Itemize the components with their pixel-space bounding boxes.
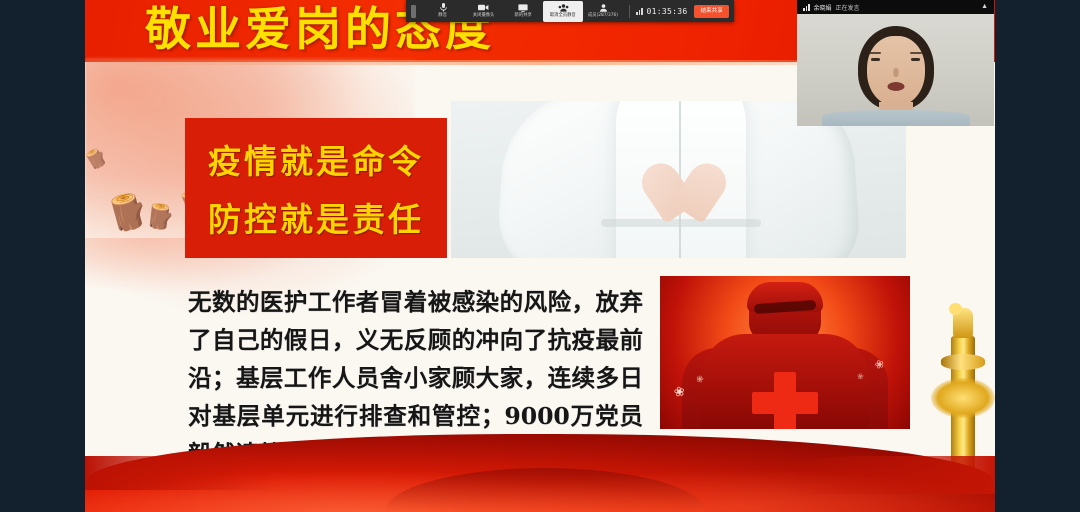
speaker-eye (911, 58, 920, 61)
toolbar-divider (629, 5, 630, 18)
ribbon-tail-right (785, 456, 995, 494)
column-disc (941, 354, 985, 370)
unmute-all-label: 取消全员静音 (550, 12, 576, 19)
speaker-video-panel[interactable]: 余晓娟 正在发言 ▲ (797, 0, 994, 126)
speaker-name: 余晓娟 (814, 3, 832, 12)
new-share-button[interactable]: 新的共享 (503, 1, 543, 22)
golden-huabiao-column (939, 300, 987, 475)
speaker-eyebrow (910, 52, 922, 54)
speaker-shirt (822, 110, 970, 126)
red-cross-icon (752, 392, 818, 414)
signal-bars-icon (636, 7, 643, 15)
lion-statue-icon (953, 308, 973, 338)
members-button[interactable]: 成员(287/376) (583, 1, 623, 22)
toolbar-drag-handle[interactable] (411, 5, 416, 18)
slogan-line-2: 防控就是责任 (208, 193, 424, 241)
participants-mute-icon (558, 3, 569, 12)
new-share-label: 新的共享 (514, 12, 531, 19)
camera-icon (478, 3, 489, 12)
mute-button[interactable]: 静音 (423, 1, 463, 22)
speaker-mouth (887, 82, 904, 91)
red-medic-back-cross-photo: ❀ ❀ ❀ ❀ (660, 276, 910, 429)
speaker-eye (871, 58, 880, 61)
speaker-eyebrow (869, 52, 881, 54)
speaking-status: 正在发言 (836, 3, 860, 12)
meeting-toolbar[interactable]: 静音 关闭摄像头 新的共享 取消全员静音 成员(287/376) (406, 0, 734, 22)
camera-label: 关闭摄像头 (472, 12, 494, 19)
column-cloud-wing (931, 378, 995, 418)
slogan-block: 疫情就是命令 防控就是责任 (185, 118, 447, 258)
slogan-line-1: 疫情就是命令 (208, 135, 424, 183)
dove-icon: 🪵 (143, 204, 176, 232)
ribbon-tail-left (85, 456, 275, 490)
heart-hands-gesture (647, 156, 721, 222)
mute-label: 静音 (439, 12, 448, 19)
signal-bars-icon (803, 4, 810, 11)
meeting-screen-share-window: 敬业爱岗的态度 🪵 🪵 🪵 🪵 疫情就是命令 防控就是责任 无数的医护工作者冒着… (0, 0, 1080, 512)
camera-toggle-button[interactable]: 关闭摄像头 (463, 1, 503, 22)
members-label: 成员(287/376) (588, 12, 618, 19)
chevron-up-icon[interactable]: ▲ (981, 3, 988, 10)
speaker-nose (893, 68, 898, 77)
video-panel-header: 余晓娟 正在发言 ▲ (797, 0, 994, 14)
video-feed[interactable] (797, 14, 994, 126)
screen-share-icon (518, 3, 528, 12)
members-icon (599, 3, 608, 12)
meeting-timer: 01:35:36 (647, 7, 688, 16)
dove-icon: ❀ (857, 372, 865, 382)
end-share-button[interactable]: 结束共享 (694, 5, 728, 18)
microphone-icon (440, 3, 447, 12)
unmute-all-button[interactable]: 取消全员静音 (543, 1, 583, 22)
